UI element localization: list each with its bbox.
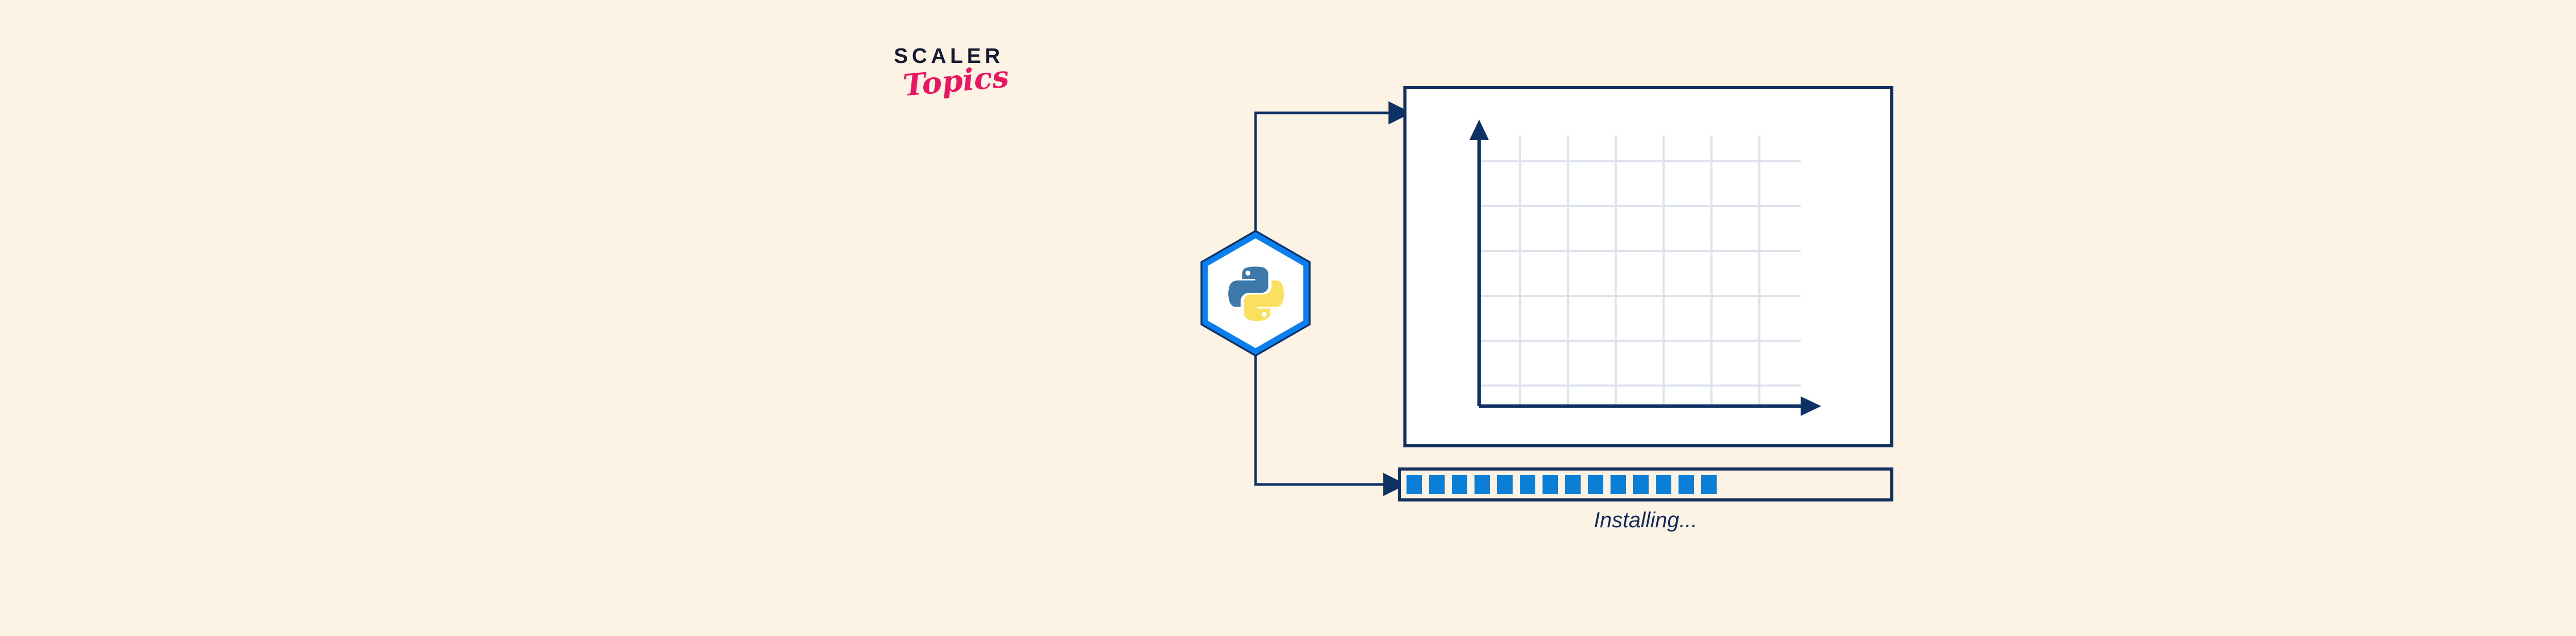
- connector-to-progress: [1256, 344, 1386, 484]
- python-logo-node[interactable]: [1201, 231, 1310, 356]
- install-status-text: Installing...: [1399, 508, 1892, 532]
- plot-window: [1405, 88, 1892, 446]
- install-progress-bar[interactable]: [1399, 469, 1892, 500]
- illustration-canvas: SCALER Topics: [0, 0, 2576, 636]
- connector-to-chart: [1256, 113, 1391, 242]
- flow-diagram: [0, 0, 2576, 636]
